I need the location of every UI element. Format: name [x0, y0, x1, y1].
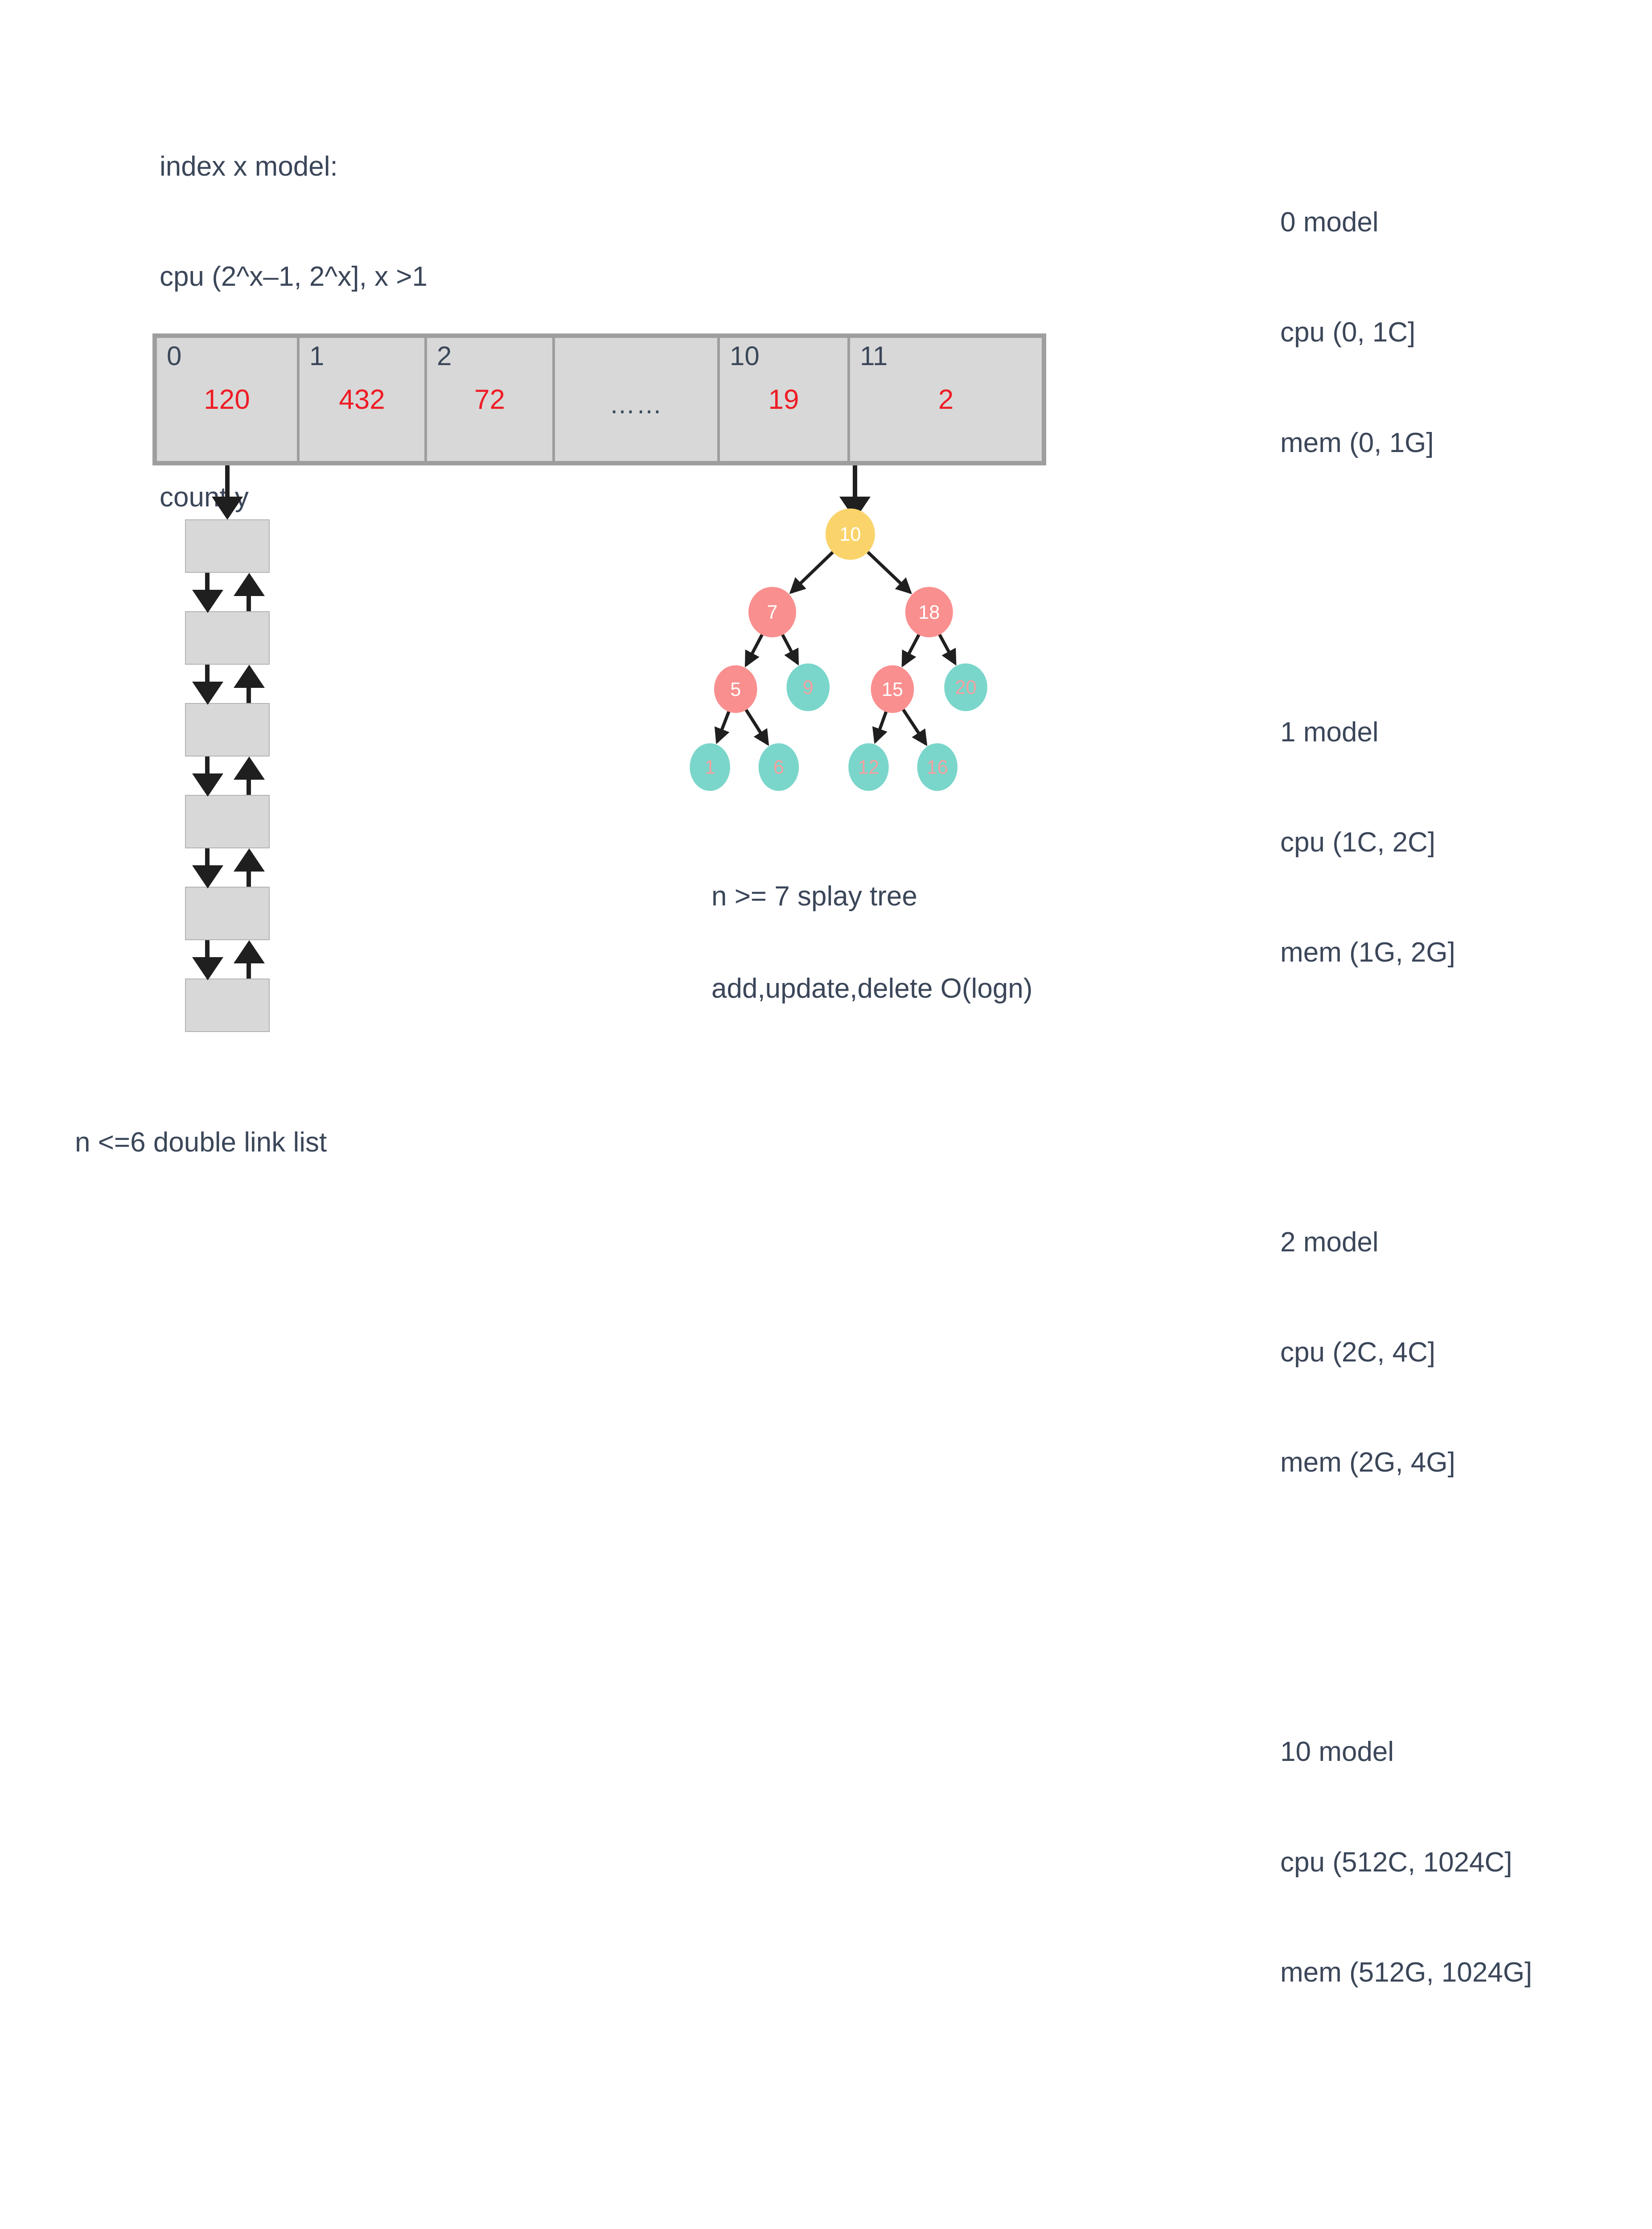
tree-node-label: 6 — [773, 757, 784, 778]
array-cell[interactable]: 11 2 — [850, 338, 1042, 461]
note-line-cpu: cpu (2^x–1, 2^x], x >1 — [160, 259, 444, 295]
arrow-head-up-icon — [234, 665, 265, 688]
tree-node[interactable]: 7 — [748, 587, 796, 637]
legend-cpu: cpu (2C, 4C] — [1280, 1334, 1532, 1371]
array-cell[interactable]: 1 432 — [300, 338, 427, 461]
legend-group: 10 model cpu (512C, 1024C] mem (512G, 10… — [1280, 1661, 1532, 2065]
arrow-head-down-icon — [192, 590, 223, 613]
legend-cpu: cpu (1C, 2C] — [1280, 824, 1532, 861]
list-item[interactable] — [185, 703, 270, 757]
tree-node[interactable]: 15 — [871, 665, 914, 713]
ellipsis-icon: …… — [555, 391, 717, 419]
array-cell-index: 0 — [167, 341, 181, 371]
arrow-shaft — [225, 465, 230, 500]
list-item[interactable] — [185, 887, 270, 940]
linked-list-caption: n <=6 double link list — [75, 1127, 327, 1158]
tree-node[interactable]: 6 — [759, 743, 799, 791]
array-cell-count: 19 — [720, 385, 847, 415]
array-cell-count: 120 — [157, 385, 297, 415]
tree-node-label: 7 — [767, 602, 777, 623]
tree-node[interactable]: 1 — [690, 743, 730, 791]
tree-edge — [717, 711, 729, 742]
arrow-head-up-icon — [234, 848, 265, 872]
arrow-head-down-icon — [192, 865, 223, 888]
legend-group: 1 model cpu (1C, 2C] mem (1G, 2G] — [1280, 641, 1532, 1045]
legend-title: 10 model — [1280, 1734, 1532, 1770]
tree-edge — [903, 709, 926, 744]
tree-node-label: 18 — [918, 602, 940, 623]
tree-node-label: 9 — [803, 677, 814, 699]
legend-mem: mem (512G, 1024G] — [1280, 1954, 1532, 1991]
array-cell-count: 432 — [300, 385, 424, 415]
legend-mem: mem (2G, 4G] — [1280, 1444, 1532, 1481]
splay-tree-caption: n >= 7 splay tree — [711, 880, 917, 912]
arrow-head-up-icon — [234, 757, 265, 780]
legend-cpu: cpu (512C, 1024C] — [1280, 1844, 1532, 1881]
list-item[interactable] — [185, 611, 270, 665]
tree-edge — [791, 551, 834, 592]
array-cell[interactable]: 2 72 — [427, 338, 555, 461]
tree-node-label: 12 — [858, 757, 879, 778]
tree-nodes: 10718591520161216 — [690, 509, 987, 791]
tree-node[interactable]: 16 — [917, 743, 958, 791]
tree-edge — [746, 634, 763, 665]
legend-title: 1 model — [1280, 714, 1532, 751]
tree-node[interactable]: 20 — [944, 663, 987, 711]
index-model-note: index x model: cpu (2^x–1, 2^x], x >1 me… — [160, 75, 444, 553]
tree-node-label: 16 — [927, 757, 948, 778]
array-cell-index: 1 — [309, 341, 324, 371]
list-item[interactable] — [185, 979, 270, 1032]
arrow-head-down-icon — [192, 957, 223, 980]
array-cell-count: 72 — [427, 385, 552, 415]
arrow-head-down-icon — [192, 773, 223, 797]
legend-group: 11 model cpu (1024C, +∞) mem (1024G, +∞) — [1280, 2170, 1532, 2229]
tree-node-label: 20 — [955, 677, 977, 699]
tree-node-label: 5 — [730, 679, 741, 700]
tree-edge — [875, 711, 887, 741]
list-item[interactable] — [185, 795, 270, 848]
arrow-shaft — [853, 465, 857, 500]
array-cell-index: 11 — [860, 341, 888, 371]
tree-node[interactable]: 9 — [786, 663, 830, 711]
tree-edge — [903, 634, 919, 665]
note-line-count: count y — [160, 479, 444, 516]
tree-node[interactable]: 18 — [905, 587, 953, 637]
array-cell-index: 10 — [730, 341, 760, 371]
arrow-head-down-icon — [212, 497, 243, 520]
list-item[interactable] — [185, 519, 270, 573]
array-cell-ellipsis: …… — [555, 338, 720, 461]
arrow-head-down-icon — [192, 682, 223, 705]
tree-node[interactable]: 5 — [714, 665, 757, 713]
tree-edge — [745, 709, 768, 744]
legend-mem: mem (0, 1G] — [1280, 425, 1532, 461]
legend-title: 2 model — [1280, 1224, 1532, 1261]
array-cell[interactable]: 10 19 — [720, 338, 850, 461]
tree-edge — [867, 551, 910, 592]
model-legend: 0 model cpu (0, 1C] mem (0, 1G] 1 model … — [1280, 57, 1532, 2229]
array-cell-index: 2 — [437, 341, 452, 371]
tree-edge — [782, 634, 797, 663]
note-line-title: index x model: — [160, 148, 444, 185]
legend-cpu: cpu (0, 1C] — [1280, 314, 1532, 351]
arrow-head-up-icon — [234, 940, 265, 963]
splay-tree: 10718591520161216 — [646, 499, 1074, 820]
tree-node[interactable]: 10 — [826, 509, 875, 560]
index-array: 0 120 1 432 2 72 …… 10 19 11 2 — [152, 333, 1046, 465]
tree-node-label: 1 — [705, 757, 715, 778]
legend-mem: mem (1G, 2G] — [1280, 934, 1532, 971]
legend-title: 0 model — [1280, 204, 1532, 241]
tree-node-label: 15 — [882, 679, 903, 700]
tree-node-label: 10 — [839, 524, 861, 545]
legend-group: 2 model cpu (2C, 4C] mem (2G, 4G] — [1280, 1151, 1532, 1555]
tree-node[interactable]: 12 — [848, 743, 889, 791]
array-cell[interactable]: 0 120 — [157, 338, 300, 461]
tree-edge — [939, 633, 955, 663]
arrow-head-up-icon — [234, 573, 265, 596]
splay-tree-complexity-caption: add,update,delete O(logn) — [711, 973, 1032, 1004]
tree-edges — [717, 551, 955, 744]
array-cell-count: 2 — [850, 385, 1042, 415]
legend-group: 0 model cpu (0, 1C] mem (0, 1G] — [1280, 131, 1532, 535]
